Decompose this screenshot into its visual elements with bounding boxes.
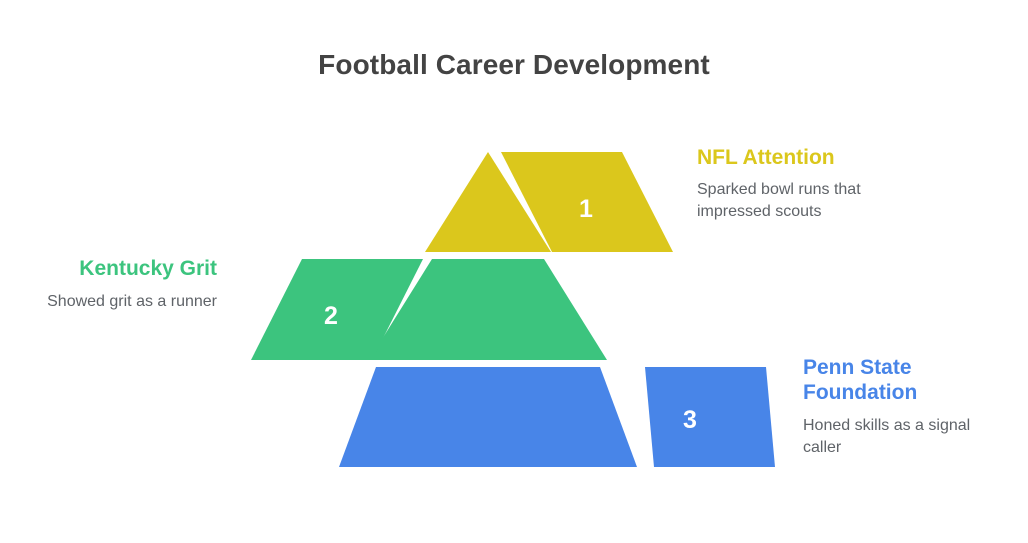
- pyramid-tier-3-body[interactable]: [339, 367, 637, 467]
- callout-label-1: NFL Attention Sparked bowl runs that imp…: [697, 145, 897, 223]
- callout-label-2: Kentucky Grit Showed grit as a runner: [20, 256, 217, 313]
- callout-description-1: Sparked bowl runs that impressed scouts: [697, 179, 897, 223]
- step-number-2: 2: [324, 302, 338, 330]
- callout-description-3: Honed skills as a signal caller: [803, 415, 1003, 459]
- callout-heading-1: NFL Attention: [697, 145, 897, 170]
- callout-heading-2: Kentucky Grit: [20, 256, 217, 281]
- callout-heading-3: Penn State Foundation: [803, 355, 1003, 405]
- callout-label-3: Penn State Foundation Honed skills as a …: [803, 355, 1003, 459]
- step-number-3: 3: [683, 406, 697, 434]
- pyramid-tier-3-callout[interactable]: [645, 367, 775, 467]
- callout-description-2: Showed grit as a runner: [20, 291, 217, 313]
- step-number-1: 1: [579, 195, 593, 223]
- infographic-canvas: Football Career Development 1 2 3 NFL At…: [0, 0, 1028, 543]
